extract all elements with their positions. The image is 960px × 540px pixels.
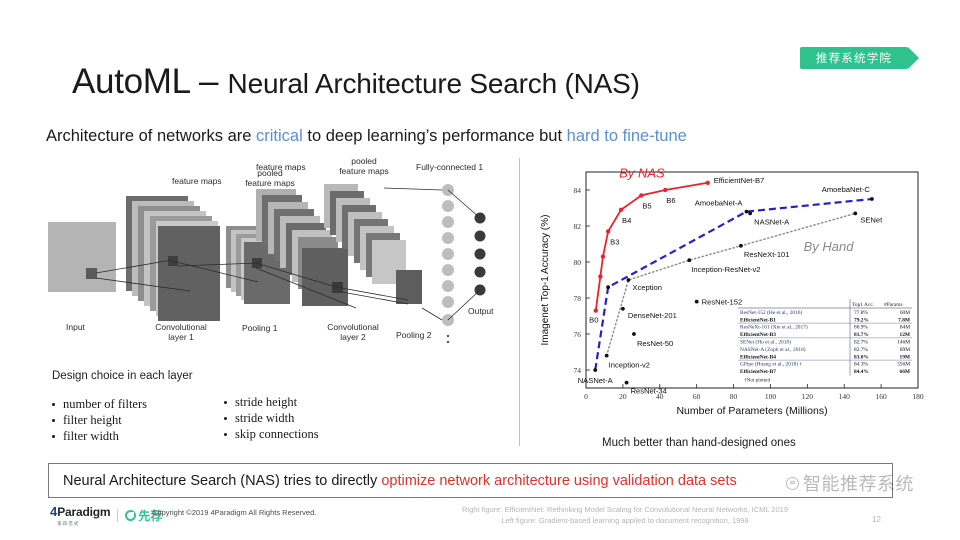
callout-text-red: optimize network architecture using vali… [381, 473, 736, 489]
reference-left: Left figure: Gradient-based learning app… [410, 515, 840, 526]
list-item: number of filters [50, 396, 147, 412]
reference-block: Right figure: EfficientNet: Rethinking M… [410, 504, 840, 526]
svg-text:ResNet-152: ResNet-152 [702, 298, 743, 307]
svg-text:79.2%: 79.2% [854, 317, 869, 323]
subtitle-highlight-finetune: hard to fine-tune [567, 127, 687, 145]
svg-text:Number of Parameters (Millions: Number of Parameters (Millions) [676, 405, 827, 417]
svg-text:19M: 19M [900, 354, 910, 360]
subtitle: Architecture of networks are critical to… [46, 127, 687, 146]
cnn-diagram-svg [44, 160, 514, 355]
svg-text:SENet (Hu et al., 2018): SENet (Hu et al., 2018) [740, 339, 791, 346]
svg-text:Imagenet Top-1 Accuracy (%): Imagenet Top-1 Accuracy (%) [540, 215, 551, 346]
svg-text:89M: 89M [900, 347, 910, 353]
list-item: stride height [222, 394, 319, 410]
cnn-label-pooled-feature-maps-2: pooledfeature maps [334, 156, 394, 176]
svg-text:SENet: SENet [860, 215, 883, 224]
svg-text:Xception: Xception [632, 283, 662, 292]
svg-text:77.8%: 77.8% [854, 310, 868, 316]
svg-text:B6: B6 [666, 196, 675, 205]
svg-text:80.9%: 80.9% [854, 325, 868, 331]
callout-text-black: Neural Architecture Search (NAS) tries t… [63, 473, 381, 489]
callout-text: Neural Architecture Search (NAS) tries t… [49, 473, 737, 489]
svg-text:84M: 84M [900, 325, 910, 331]
subtitle-highlight-critical: critical [256, 127, 303, 145]
efficientnet-accuracy-chart: 020406080100120140160180Number of Parame… [534, 160, 930, 432]
svg-text:#Params: #Params [884, 302, 903, 308]
cnn-label-feature-maps-1: feature maps [172, 176, 222, 186]
subtitle-part2: to deep learning’s performance but [303, 127, 567, 145]
callout-box: Neural Architecture Search (NAS) tries t… [48, 463, 893, 498]
slide-root: 推荐系统学院 AutoML – Neural Architecture Sear… [0, 0, 960, 540]
svg-text:EfficientNet-B4: EfficientNet-B4 [740, 354, 776, 360]
svg-text:By NAS: By NAS [619, 165, 665, 180]
design-choice-heading: Design choice in each layer [52, 370, 193, 382]
svg-text:ResNeXt-101: ResNeXt-101 [744, 250, 790, 259]
svg-text:†Not plotted: †Not plotted [744, 378, 770, 384]
brand-badge: 推荐系统学院 [800, 47, 908, 69]
cnn-label-pool2: Pooling 2 [396, 330, 431, 340]
vertical-divider [519, 158, 520, 446]
svg-text:EfficientNet-B7: EfficientNet-B7 [740, 369, 776, 375]
design-choice-list-b: stride height stride width skip connecti… [222, 394, 319, 442]
cnn-label-conv1: Convolutionallayer 1 [144, 322, 218, 342]
svg-text:60: 60 [693, 392, 701, 401]
svg-text:0: 0 [584, 392, 588, 401]
subtitle-part1: Architecture of networks are [46, 127, 256, 145]
svg-text:100: 100 [765, 392, 777, 401]
list-item: stride width [222, 410, 319, 426]
svg-text:DenseNet-201: DenseNet-201 [628, 311, 677, 320]
svg-text:7.8M: 7.8M [898, 317, 910, 323]
svg-text:ResNet-50: ResNet-50 [637, 339, 673, 348]
svg-text:160: 160 [875, 392, 887, 401]
page-title: AutoML – Neural Architecture Search (NAS… [72, 62, 640, 102]
svg-text:AmoebaNet-C: AmoebaNet-C [822, 185, 871, 194]
svg-text:66M: 66M [900, 369, 910, 375]
svg-text:82.7%: 82.7% [854, 347, 868, 353]
svg-text:80: 80 [574, 258, 582, 267]
svg-text:EfficientNet-B7: EfficientNet-B7 [714, 176, 765, 185]
logo-4paradigm: 4 Paradigm 第四范式 [50, 503, 110, 527]
cnn-label-fully-connected: Fully-connected 1 [416, 162, 483, 172]
svg-text:12M: 12M [900, 332, 910, 338]
chart-svg: 020406080100120140160180Number of Parame… [534, 160, 930, 432]
svg-text:120: 120 [802, 392, 814, 401]
brand-badge-label: 推荐系统学院 [816, 50, 892, 66]
svg-text:EfficientNet-B3: EfficientNet-B3 [740, 332, 776, 338]
svg-text:B0: B0 [589, 316, 598, 325]
svg-text:GPipe (Huang et al., 2018) †: GPipe (Huang et al., 2018) † [740, 361, 802, 368]
svg-text:82: 82 [574, 222, 582, 231]
page-title-sub: Neural Architecture Search (NAS) [228, 68, 640, 99]
svg-text:Inception-v2: Inception-v2 [609, 361, 650, 370]
svg-text:B5: B5 [642, 201, 651, 210]
list-item: filter width [50, 428, 147, 444]
leaf-icon [125, 510, 136, 521]
svg-text:By Hand: By Hand [804, 239, 855, 254]
svg-text:84.4%: 84.4% [854, 369, 869, 375]
svg-text:83.0%: 83.0% [854, 354, 869, 360]
svg-text:78: 78 [574, 294, 582, 303]
list-item: filter height [50, 412, 147, 428]
page-number: 12 [872, 515, 881, 524]
svg-text:NASNet-A (Zoph et al., 2018): NASNet-A (Zoph et al., 2018) [740, 346, 806, 353]
cnn-architecture-diagram: feature maps pooledfeature maps feature … [44, 160, 514, 355]
svg-text:20: 20 [619, 392, 627, 401]
page-title-main: AutoML – [72, 62, 228, 101]
footer-logos: 4 Paradigm 第四范式 先荐 [50, 503, 162, 527]
svg-text:146M: 146M [897, 340, 910, 346]
svg-text:82.7%: 82.7% [854, 340, 868, 346]
svg-text:Inception-ResNet-v2: Inception-ResNet-v2 [691, 265, 760, 274]
design-choice-list-a: number of filters filter height filter w… [50, 396, 147, 444]
logo-4paradigm-word: Paradigm [57, 505, 110, 519]
svg-text:B4: B4 [622, 216, 631, 225]
copyright-text: Copyright ©2019 4Paradigm All Rights Res… [152, 508, 316, 517]
reference-right: Right figure: EfficientNet: Rethinking M… [410, 504, 840, 515]
svg-text:76: 76 [574, 330, 582, 339]
cnn-label-input: Input [66, 322, 85, 332]
svg-text:74: 74 [574, 366, 582, 375]
svg-text:180: 180 [912, 392, 924, 401]
cnn-label-conv2: Convolutionallayer 2 [316, 322, 390, 342]
logo-separator [117, 509, 118, 522]
logo-4paradigm-cn: 第四范式 [57, 521, 110, 527]
svg-text:81.7%: 81.7% [854, 332, 869, 338]
svg-text:84: 84 [574, 186, 582, 195]
cnn-label-feature-maps-2: feature maps [256, 162, 306, 172]
logo-4paradigm-mark: 4 [50, 504, 57, 519]
svg-text:ResNet-152 (He et al., 2016): ResNet-152 (He et al., 2016) [740, 309, 802, 316]
svg-text:Top1 Acc.: Top1 Acc. [852, 302, 874, 308]
svg-text:84.3%: 84.3% [854, 362, 868, 368]
svg-text:140: 140 [839, 392, 851, 401]
svg-text:80: 80 [730, 392, 738, 401]
cnn-label-output: Output [468, 306, 494, 316]
svg-text:60M: 60M [900, 310, 910, 316]
svg-text:556M: 556M [897, 362, 910, 368]
svg-text:NASNet-A: NASNet-A [578, 376, 614, 385]
chart-caption: Much better than hand-designed ones [602, 437, 796, 449]
list-item: skip connections [222, 426, 319, 442]
svg-text:NASNet-A: NASNet-A [754, 217, 790, 226]
cnn-label-pool1: Pooling 1 [242, 323, 277, 333]
svg-text:ResNet-34: ResNet-34 [631, 387, 667, 396]
svg-text:EfficientNet-B1: EfficientNet-B1 [740, 317, 776, 323]
svg-text:B3: B3 [610, 237, 619, 246]
svg-text:ResNeXt-101 (Xie et al., 2017): ResNeXt-101 (Xie et al., 2017) [740, 324, 808, 331]
svg-text:AmoebaNet-A: AmoebaNet-A [695, 199, 744, 208]
